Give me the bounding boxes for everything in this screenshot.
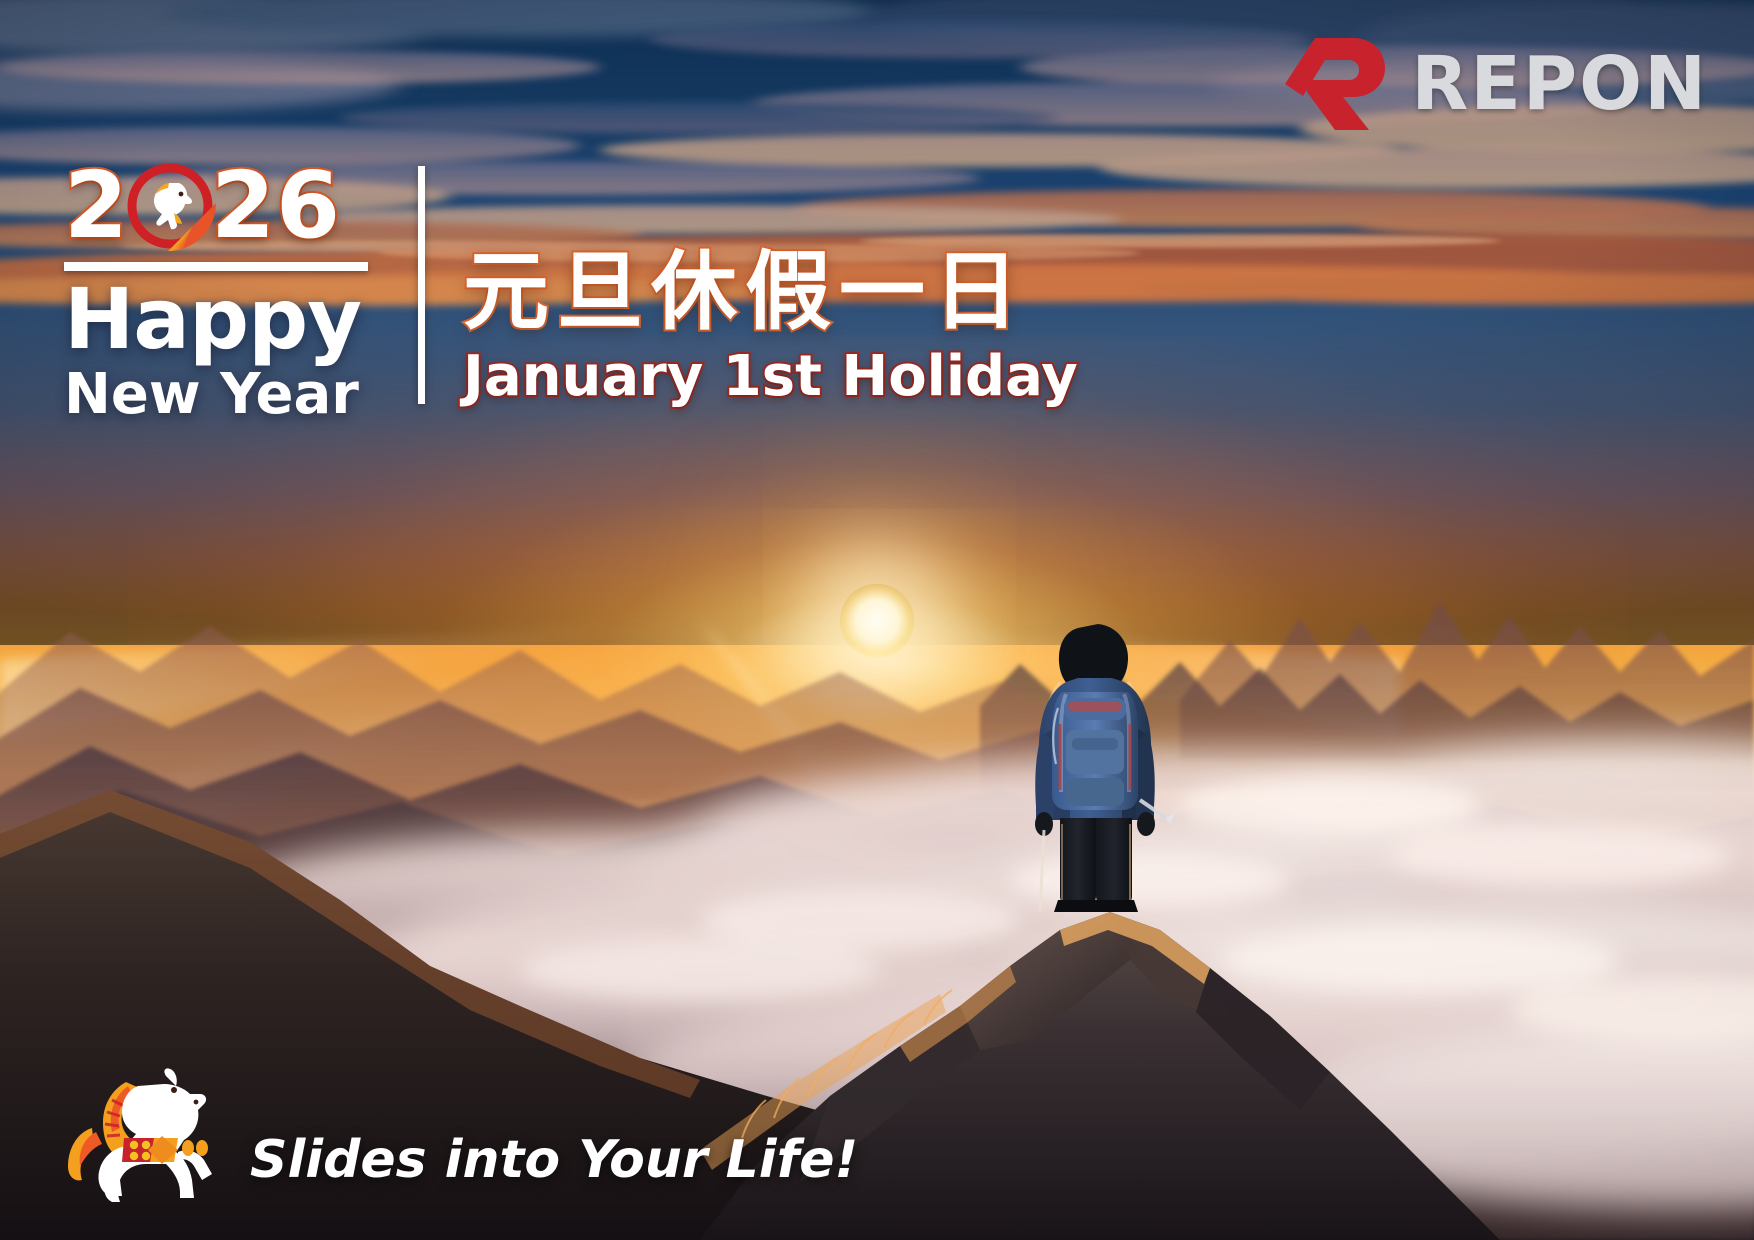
horse-medallion-icon <box>127 163 213 249</box>
happy-text: Happy <box>64 277 384 361</box>
footer-block: Slides into Your Life! <box>62 1056 858 1206</box>
year-2026: 2 2 6 <box>64 160 384 252</box>
vertical-divider <box>418 166 425 404</box>
chinese-title: 元旦休假一日 <box>463 244 1078 340</box>
repon-logo[interactable]: REPON <box>1277 34 1708 134</box>
year-digit-3: 2 <box>211 160 276 252</box>
headline-block: 2 2 6 <box>64 160 1078 427</box>
hiker-figure <box>1000 612 1190 912</box>
tagline-text: Slides into Your Life! <box>250 1132 858 1206</box>
repon-wordmark: REPON <box>1411 47 1708 121</box>
headline-right-column: 元旦休假一日 January 1st Holiday <box>463 160 1078 408</box>
repon-r-logo-icon <box>1277 34 1389 134</box>
white-horse-mascot-icon <box>62 1056 232 1206</box>
english-subtitle: January 1st Holiday <box>463 346 1078 408</box>
new-year-text: New Year <box>64 363 384 427</box>
year-digit-1: 2 <box>64 160 129 252</box>
poster-canvas: REPON 2 <box>0 0 1754 1240</box>
year-digit-4: 6 <box>276 160 341 252</box>
headline-left-column: 2 2 6 <box>64 160 384 427</box>
